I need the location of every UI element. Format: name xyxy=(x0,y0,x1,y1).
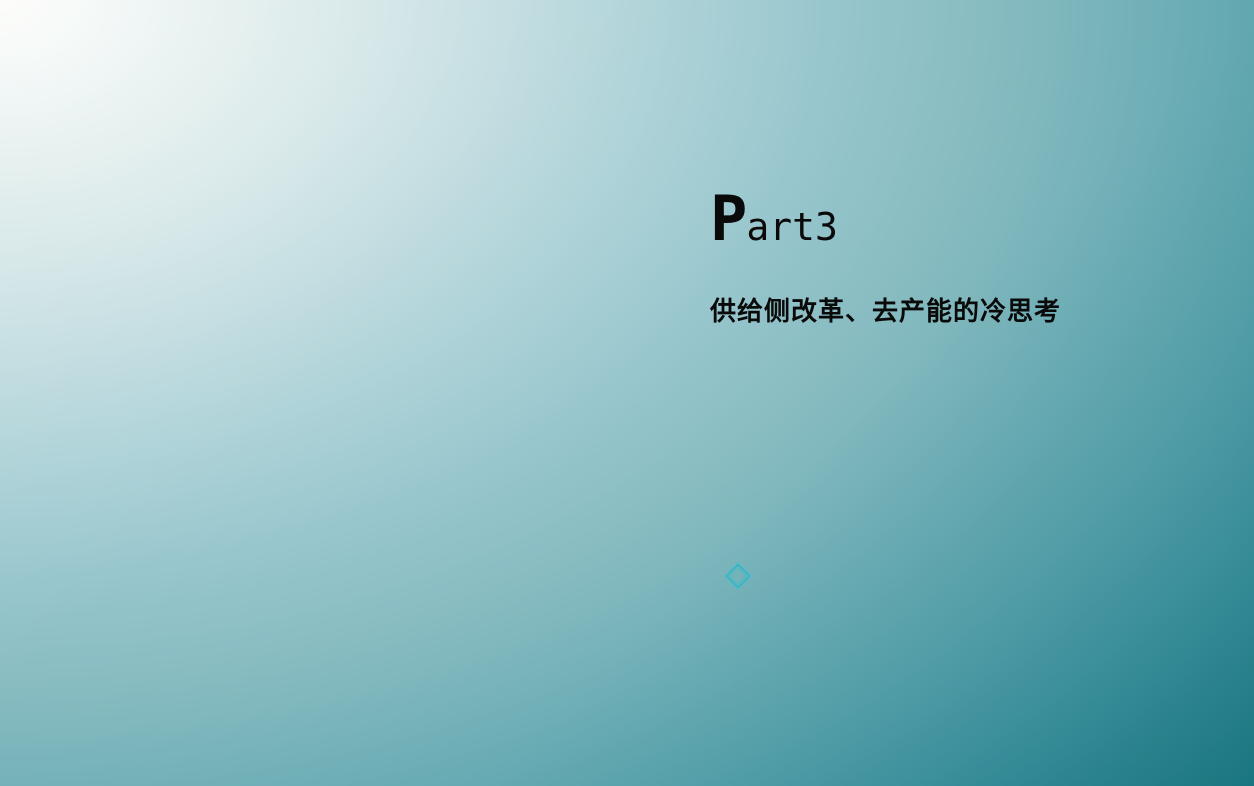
title-block: Part3 xyxy=(710,188,1230,250)
slide-subtitle: 供给侧改革、去产能的冷思考 xyxy=(710,296,1061,330)
page-title-initial: P xyxy=(710,182,746,255)
page-title: Part3 xyxy=(710,188,1230,250)
presentation-slide: Part3 供给侧改革、去产能的冷思考 xyxy=(0,0,1254,786)
slide-background-gradient xyxy=(0,0,1254,786)
page-title-rest: art3 xyxy=(746,205,838,249)
diamond-icon xyxy=(722,560,754,592)
